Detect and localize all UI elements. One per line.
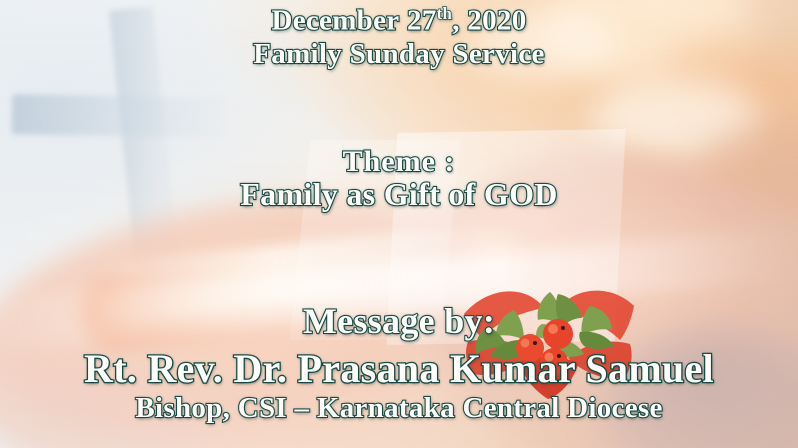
- message-by-label: Message by:: [0, 300, 798, 342]
- date-month-text: December: [271, 5, 399, 37]
- service-name: Family Sunday Service: [0, 38, 798, 71]
- speaker-name: Rt. Rev. Dr. Prasana Kumar Samuel: [0, 345, 798, 392]
- date-ordinal-suffix: th: [437, 4, 453, 23]
- theme-text: Family as Gift of GOD: [0, 176, 798, 213]
- service-date: December 27th, 2020: [0, 4, 798, 38]
- speaker-role: Bishop, CSI – Karnataka Central Diocese: [0, 392, 798, 425]
- theme-label: Theme :: [0, 145, 798, 179]
- service-title-slide: December 27th, 2020 Family Sunday Servic…: [0, 0, 798, 448]
- date-year-text: , 2020: [452, 5, 526, 37]
- date-day-number: 27: [407, 5, 437, 37]
